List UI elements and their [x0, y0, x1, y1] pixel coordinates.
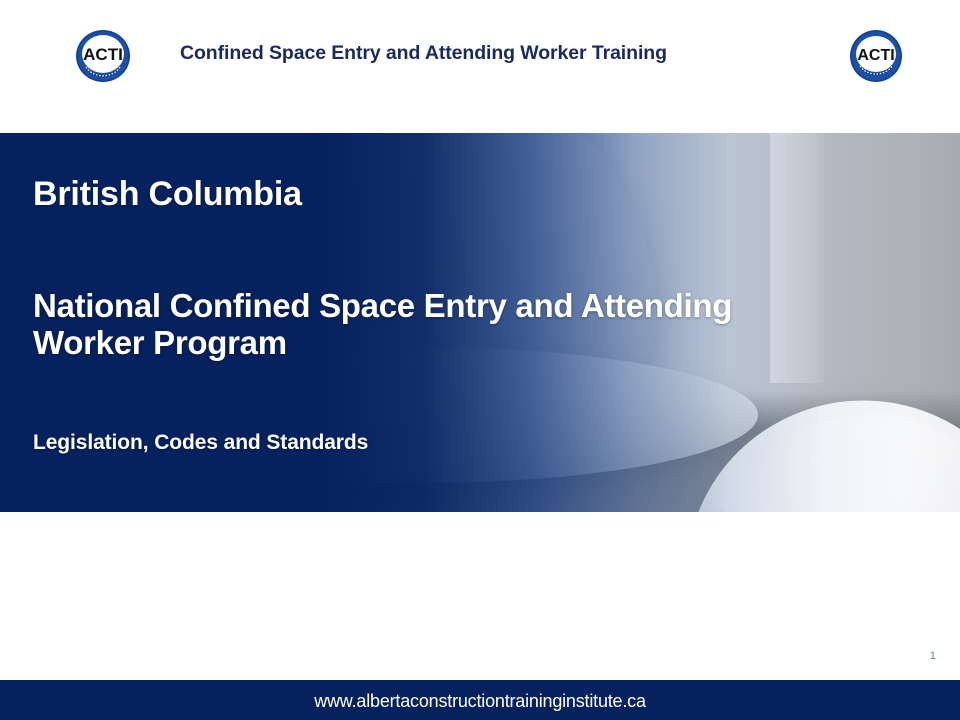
hero-text-block: British Columbia National Confined Space… — [33, 133, 793, 512]
page-title: Confined Space Entry and Attending Worke… — [180, 42, 820, 65]
acti-logo-left-icon: ACTI — [74, 28, 132, 84]
slide: ACTI Confined Space Entry and Attending … — [0, 0, 960, 720]
hero-province-label: British Columbia — [33, 175, 302, 214]
hero-heading: National Confined Space Entry and Attend… — [33, 288, 753, 362]
svg-text:ACTI: ACTI — [857, 47, 894, 64]
slide-header: ACTI Confined Space Entry and Attending … — [0, 0, 960, 133]
hero-subheading: Legislation, Codes and Standards — [33, 431, 368, 455]
footer-website-url[interactable]: www.albertaconstructiontraininginstitute… — [0, 691, 960, 712]
slide-footer: www.albertaconstructiontraininginstitute… — [0, 680, 960, 720]
slide-content-area: 1 — [0, 512, 960, 680]
svg-text:ACTI: ACTI — [83, 45, 123, 64]
hero-banner: British Columbia National Confined Space… — [0, 133, 960, 512]
acti-logo-right-icon: ACTI — [848, 28, 904, 84]
page-number: 1 — [930, 650, 936, 662]
